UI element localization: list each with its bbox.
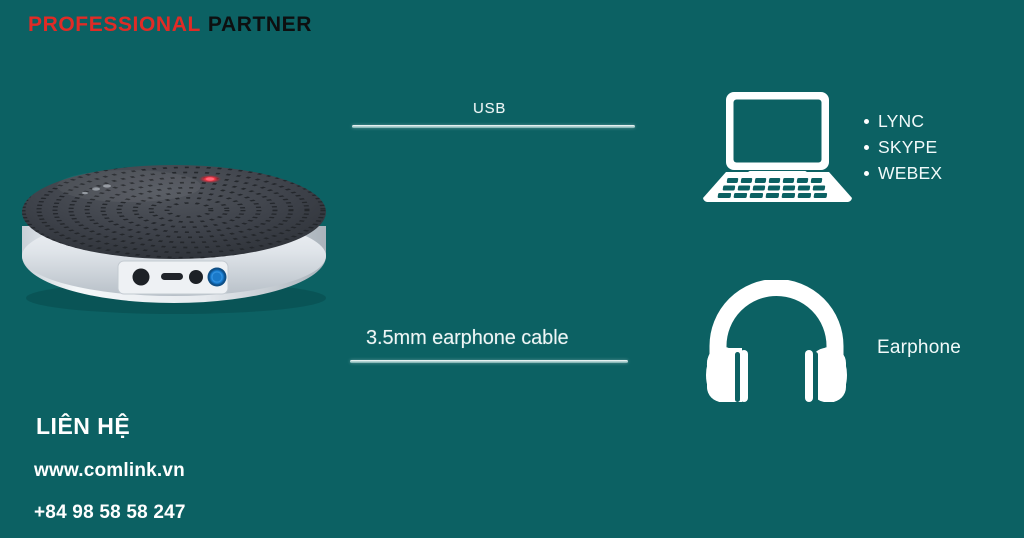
usb-connection-line bbox=[352, 125, 635, 128]
status-led bbox=[199, 175, 221, 183]
brand-secondary-text: PARTNER bbox=[208, 13, 312, 36]
brand-primary-text: PROFESSIONAL bbox=[28, 13, 201, 36]
contact-title: LIÊN HỆ bbox=[36, 413, 186, 440]
earphone-cable-label: 3.5mm earphone cable bbox=[366, 327, 569, 350]
app-label-lync: LYNC bbox=[878, 111, 924, 131]
contact-website[interactable]: www.comlink.vn bbox=[34, 460, 186, 482]
earphone-target-label: Earphone bbox=[877, 337, 961, 359]
usb-connection-label: USB bbox=[473, 100, 506, 117]
headphone-icon bbox=[704, 280, 849, 402]
bullet-icon bbox=[864, 145, 869, 150]
laptop-icon bbox=[700, 88, 855, 206]
speakerphone-product-image bbox=[14, 158, 334, 318]
contact-phone[interactable]: +84 98 58 58 247 bbox=[34, 502, 186, 524]
app-list-item-lync: LYNC bbox=[864, 108, 942, 134]
app-list-item-webex: WEBEX bbox=[864, 160, 942, 186]
earphone-cable-line bbox=[350, 360, 628, 363]
app-label-skype: SKYPE bbox=[878, 137, 937, 157]
contact-block: LIÊN HỆ www.comlink.vn +84 98 58 58 247 bbox=[36, 413, 186, 524]
app-list-item-skype: SKYPE bbox=[864, 134, 942, 160]
bullet-icon bbox=[864, 119, 869, 124]
promo-banner: PROFESSIONALPARTNER bbox=[0, 0, 1024, 538]
bullet-icon bbox=[864, 171, 869, 176]
port-panel bbox=[118, 261, 228, 294]
brand-header: PROFESSIONALPARTNER bbox=[28, 13, 312, 37]
app-label-webex: WEBEX bbox=[878, 163, 942, 183]
supported-apps-list: LYNC SKYPE WEBEX bbox=[864, 108, 942, 186]
